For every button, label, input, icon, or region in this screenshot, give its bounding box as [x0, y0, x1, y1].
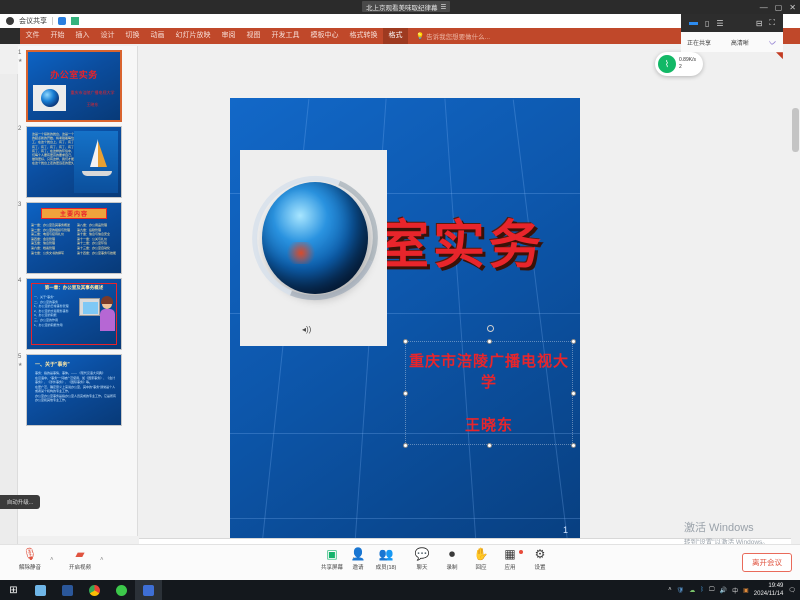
fullscreen-icon[interactable]: ⛶: [769, 18, 775, 28]
meeting-toolbar: 🎙 解除静音 ˄ ▰ 开启视频 ˄ ▣ 共享屏幕 ˄ 👤 邀请 👥 成员(18)…: [0, 544, 800, 580]
layout-icon[interactable]: ⊟: [756, 19, 763, 28]
tell-me-label: 告诉我您想要做什么...: [426, 31, 490, 41]
thumbnail-slide-surface: 主要内容 第一章：办公室及其事务概述 第二章：办公室的组织与管理 第三章：电话与…: [26, 202, 122, 274]
thumbnail-slide-surface: 办公室实务 重庆市涪陵广播电视大学 王晓东: [26, 50, 122, 122]
list-item: 在更广泛、确定意义上来说办公室，其中的"事务"通常是个人或者某个机构的专业工作。: [35, 385, 116, 394]
record-icon: ⏺: [449, 548, 455, 561]
list-item: 办公室办公室事务是指办公室人员完成的专业工作。它是所有办公室和其他专业工作。: [35, 394, 116, 403]
slide-subtitle-line-1: 重庆市涪陵广播电视大学: [406, 350, 572, 392]
clock-time: 19:49: [768, 582, 783, 590]
ribbon-tab-animation[interactable]: 动画: [145, 28, 170, 44]
signal-icon[interactable]: [71, 17, 79, 25]
tell-me-box[interactable]: 💡 告诉我您想要做什么...: [408, 31, 490, 41]
thumb5-list: 事务：指的是事情、事体。—— 《现代汉语大词典》 在汉语中，"事务"一词被广泛使…: [35, 371, 116, 403]
resize-handle-s[interactable]: [487, 443, 492, 448]
resize-handle-w[interactable]: [403, 391, 408, 396]
list-item: 1、办公室的职能作用: [34, 323, 78, 328]
decor-grid-line: [230, 518, 580, 519]
ribbon-tab-insert[interactable]: 插入: [70, 28, 95, 44]
battery-level: 2: [679, 64, 696, 71]
apps-label: 应用: [504, 563, 515, 571]
divider: [52, 17, 53, 25]
mic-button[interactable]: 🎙 解除静音: [8, 548, 52, 571]
chrome-icon[interactable]: [81, 580, 108, 600]
mic-muted-icon: 🎙: [22, 548, 37, 561]
thumb4-list: 一、关于"事务" 二、办公室的事务 1、办公室的日常事务管理 2、办公室的文秘服…: [34, 295, 78, 327]
slide-subtitle-placeholder[interactable]: 重庆市涪陵广播电视大学 王晓东: [405, 341, 573, 445]
thumbnail-star-icon: ★: [18, 362, 22, 368]
windows-activation-watermark: 激活 Windows 转到"设置"以激活 Windows。: [684, 519, 769, 544]
thumbnail-number: 3: [18, 202, 21, 208]
collapse-caret-icon[interactable]: ◥: [776, 50, 786, 60]
shared-screen-stage: 会议共享 文件 开始 插入 设计 切换 动画 幻灯片放映 审阅 视图 开发工具 …: [0, 14, 800, 544]
ppt-ribbon: 文件 开始 插入 设计 切换 动画 幻灯片放映 审阅 视图 开发工具 模板中心 …: [0, 28, 800, 44]
taskbar-clock[interactable]: 19:49 2024/11/14: [754, 582, 784, 598]
thumb1-picture: [33, 85, 66, 111]
rotate-handle[interactable]: [487, 325, 494, 332]
audio-bar-icon[interactable]: [689, 22, 698, 25]
ribbon-tab-transition[interactable]: 切换: [120, 28, 145, 44]
chat-label: 聊天: [416, 563, 427, 571]
network-status-badge[interactable]: ⌇ 0.89K/s 2: [655, 52, 703, 76]
media-play-icon[interactable]: ◂)): [302, 325, 311, 334]
thumbnail-number: 5: [18, 354, 21, 360]
ribbon-tab-view[interactable]: 视图: [241, 28, 266, 44]
ribbon-left-block: [0, 28, 20, 44]
ribbon-tab-design[interactable]: 设计: [95, 28, 120, 44]
slide-thumbnail-pane[interactable]: 1 ★ 办公室实务 重庆市涪陵广播电视大学 王晓东 2: [18, 46, 138, 536]
resize-handle-se[interactable]: [571, 443, 576, 448]
list-item: 事务：指的是事情、事体。—— 《现代汉语大词典》: [35, 371, 116, 376]
slide-editing-area[interactable]: 办公室实务 ◂)) 重庆市涪陵广播电视大学 王晓东: [145, 46, 740, 536]
hull-shape: [82, 171, 112, 176]
sharing-control-bar[interactable]: ▯ ☰ ⊟ ⛶: [681, 14, 783, 32]
ribbon-tab-home[interactable]: 开始: [45, 28, 70, 44]
volume-icon[interactable]: 🔊: [720, 587, 727, 594]
meeting-window: 北上京观看美味取纪律幕 ☰ — ▢ ✕ 会议共享 文件 开始 插入 设计 切换 …: [0, 0, 800, 600]
thumbnail-number: 2: [18, 126, 21, 132]
meeting-titlebar: 北上京观看美味取纪律幕 ☰ — ▢ ✕: [0, 0, 800, 14]
thumbnail-number: 4: [18, 278, 21, 284]
windows-taskbar: ⊞ ˄ 🛡 ☁ ᛒ 🖵 🔊 中 ▣ 19:49 2024/11/14 🗨: [0, 580, 800, 600]
ime-icon[interactable]: 中: [732, 586, 738, 595]
camera-caret-icon[interactable]: ˄: [100, 557, 104, 563]
bluetooth-icon[interactable]: ᛒ: [700, 587, 704, 593]
clock-date: 2024/11/14: [754, 590, 784, 598]
watermark-title: 激活 Windows: [684, 519, 769, 535]
monitor-shape: [79, 298, 100, 316]
mic-label: 解除静音: [19, 563, 41, 571]
ribbon-tab-format[interactable]: 格式: [383, 28, 408, 44]
maximize-icon[interactable]: ▢: [775, 3, 783, 12]
cloud-icon[interactable]: ☁: [689, 587, 695, 594]
list-item: 在汉语中，"事务"一词被广泛使用，如《国家事务》、《会计事务》、《涉外事务》、《…: [35, 376, 116, 385]
sharing-status-text: 正在共享: [687, 38, 711, 47]
camera-button[interactable]: ▰ 开启视频: [58, 548, 102, 571]
globe-icon: [41, 89, 59, 107]
thumb2-body: 这是一个崭新的舞台，这是一个新的起点新的开始，将考验着每位员工，在这个舞台上，有…: [32, 132, 77, 166]
resize-handle-e[interactable]: [571, 391, 576, 396]
slide-thumbnail-5[interactable]: 5 ★ 一、关于"事务" 事务：指的是事情、事体。—— 《现代汉语大词典》 在汉…: [26, 354, 130, 426]
settings-button[interactable]: ⚙ 设置: [518, 548, 562, 571]
thumb3-left-list: 第一章：办公室及其事务概述 第二章：办公室的组织与管理 第三章：电话与接待礼仪 …: [31, 223, 75, 255]
slide-thumbnail-3[interactable]: 3 主要内容 第一章：办公室及其事务概述 第二章：办公室的组织与管理 第三章：电…: [26, 202, 130, 274]
chevron-up-icon[interactable]: ˄: [668, 587, 672, 593]
slide-thumbnail-2[interactable]: 2 这是一个崭新的舞台，这是一个新的起点新的开始，将考验着每位员工，在这个舞台上…: [26, 126, 130, 198]
thumb1-sub1: 重庆市涪陵广播电视大学: [68, 90, 117, 96]
thumb1-title: 办公室实务: [28, 68, 120, 81]
globe-ring: [233, 157, 396, 319]
thumb1-sub2: 王晓东: [68, 102, 117, 108]
invite-label: 邀请: [352, 563, 363, 571]
network-icon[interactable]: 🖵: [709, 587, 715, 594]
meeting-topic-label: 北上京观看美味取纪律幕: [366, 2, 438, 12]
resize-handle-nw[interactable]: [403, 339, 408, 344]
ppt-quickbar: 会议共享: [0, 14, 800, 28]
left-strip: [0, 74, 18, 544]
participants-icon: 👥: [379, 548, 394, 561]
apps-icon: ▦: [504, 548, 515, 561]
meeting-icon[interactable]: [135, 580, 162, 600]
screen-shape: [83, 302, 98, 314]
list-item: 第十四章：办公室事务与技能: [77, 251, 121, 256]
current-slide[interactable]: 办公室实务 ◂)) 重庆市涪陵广播电视大学 王晓东: [230, 98, 580, 544]
wechat-icon[interactable]: [108, 580, 135, 600]
app-logo-icon: ᨆ: [769, 37, 777, 48]
hair-shape: [101, 296, 113, 304]
video-icon[interactable]: ▯: [705, 19, 709, 28]
slide-picture-globe[interactable]: ◂)): [240, 150, 387, 346]
menu-icon[interactable]: ☰: [441, 3, 447, 11]
office-icon[interactable]: [54, 580, 81, 600]
info-icon: [6, 17, 14, 25]
notification-icon[interactable]: 🗨: [788, 587, 796, 594]
sailboat-image: [74, 131, 118, 193]
windows-start-icon[interactable]: ⊞: [0, 580, 27, 600]
mic-caret-icon[interactable]: ˄: [50, 557, 54, 563]
ppt-quickbar-label: 会议共享: [19, 16, 47, 26]
thumbnail-slide-surface: 第一章：办公室及其事务概述 一、关于"事务" 二、办公室的事务 1、办公室的日常…: [26, 278, 122, 350]
body-shape: [100, 309, 115, 331]
shield-icon[interactable]: [58, 17, 66, 25]
security-icon[interactable]: 🛡: [677, 587, 685, 594]
slide-subtitle-line-2: 王晓东: [406, 414, 572, 435]
record-label: 录制: [446, 563, 457, 571]
ribbon-tab-slideshow[interactable]: 幻灯片放映: [170, 28, 216, 44]
thumbnail-slide-surface: 这是一个崭新的舞台，这是一个新的起点新的开始，将考验着每位员工，在这个舞台上，有…: [26, 126, 122, 198]
ribbon-tab-developer[interactable]: 开发工具: [266, 28, 305, 44]
network-stats: 0.89K/s 2: [679, 57, 696, 71]
app-icon[interactable]: ▣: [743, 587, 749, 594]
participants-icon[interactable]: ☰: [716, 19, 723, 28]
resize-handle-ne[interactable]: [571, 339, 576, 344]
camera-label: 开启视频: [69, 563, 91, 571]
sail-shape: [98, 141, 107, 167]
thumb4-title: 第一章：办公室及其事务概述: [27, 285, 121, 291]
sharing-status-panel: 正在共享 高清晰 ᨆ: [681, 32, 783, 52]
left-floating-tab[interactable]: 自动升级...: [0, 495, 40, 509]
ribbon-tab-file[interactable]: 文件: [20, 28, 45, 44]
file-explorer-icon[interactable]: [27, 580, 54, 600]
gear-icon: ⚙: [535, 548, 546, 561]
thumbnail-star-icon: ★: [18, 58, 22, 64]
window-controls: — ▢ ✕: [760, 0, 796, 14]
reaction-label: 回应: [475, 563, 486, 571]
resize-handle-n[interactable]: [487, 339, 492, 344]
sail-shape: [90, 139, 98, 167]
lightbulb-icon: 💡: [416, 32, 424, 40]
reaction-icon: ✋: [474, 548, 489, 561]
chat-icon: 💬: [415, 548, 430, 561]
close-icon[interactable]: ✕: [789, 3, 796, 12]
settings-label: 设置: [534, 563, 545, 571]
network-speed: 0.89K/s: [679, 57, 696, 64]
thumbnail-slide-surface: 一、关于"事务" 事务：指的是事情、事体。—— 《现代汉语大词典》 在汉语中，"…: [26, 354, 122, 426]
thumb3-title: 主要内容: [41, 208, 107, 219]
camera-off-icon: ▰: [75, 548, 84, 561]
sharing-quality-text: 高清晰: [731, 38, 749, 47]
watermark-subtitle: 转到"设置"以激活 Windows。: [684, 536, 769, 544]
resize-handle-sw[interactable]: [403, 443, 408, 448]
scrollbar-thumb[interactable]: [792, 108, 799, 152]
minimize-icon[interactable]: —: [760, 3, 768, 12]
meeting-topic-chip[interactable]: 北上京观看美味取纪律幕 ☰: [362, 1, 450, 12]
person-at-computer-image: [79, 294, 115, 340]
slide-thumbnail-1[interactable]: 1 ★ 办公室实务 重庆市涪陵广播电视大学 王晓东: [26, 50, 130, 122]
thumbnail-number: 1: [18, 50, 21, 56]
leave-meeting-button[interactable]: 离开会议: [742, 553, 792, 572]
system-tray: ˄ 🛡 ☁ ᛒ 🖵 🔊 中 ▣ 19:49 2024/11/14 🗨: [668, 580, 796, 600]
thumb5-title: 一、关于"事务": [35, 361, 70, 368]
vertical-scrollbar[interactable]: [791, 74, 800, 544]
thumb3-right-list: 第八章：办公用品管理 第九章：后勤管理 第十章：信息与信息安全 第十一章：公关与…: [77, 223, 121, 255]
ppt-body: 1 ★ 办公室实务 重庆市涪陵广播电视大学 王晓东 2: [0, 44, 800, 544]
slide-thumbnail-4[interactable]: 4 第一章：办公室及其事务概述 一、关于"事务" 二、办公室的事务 1、办公室的…: [26, 278, 130, 350]
wifi-icon: ⌇: [658, 55, 676, 73]
ribbon-tab-review[interactable]: 审阅: [216, 28, 241, 44]
ribbon-tab-template[interactable]: 模板中心: [305, 28, 344, 44]
participants-label: 成员(18): [376, 563, 397, 571]
list-item: 第一章：办公室及其事务概述: [31, 223, 75, 228]
list-item: 第七章：公务文书的撰写: [31, 251, 75, 256]
ribbon-tab-convert[interactable]: 格式转换: [344, 28, 383, 44]
slide-page-number: 1: [563, 525, 568, 535]
